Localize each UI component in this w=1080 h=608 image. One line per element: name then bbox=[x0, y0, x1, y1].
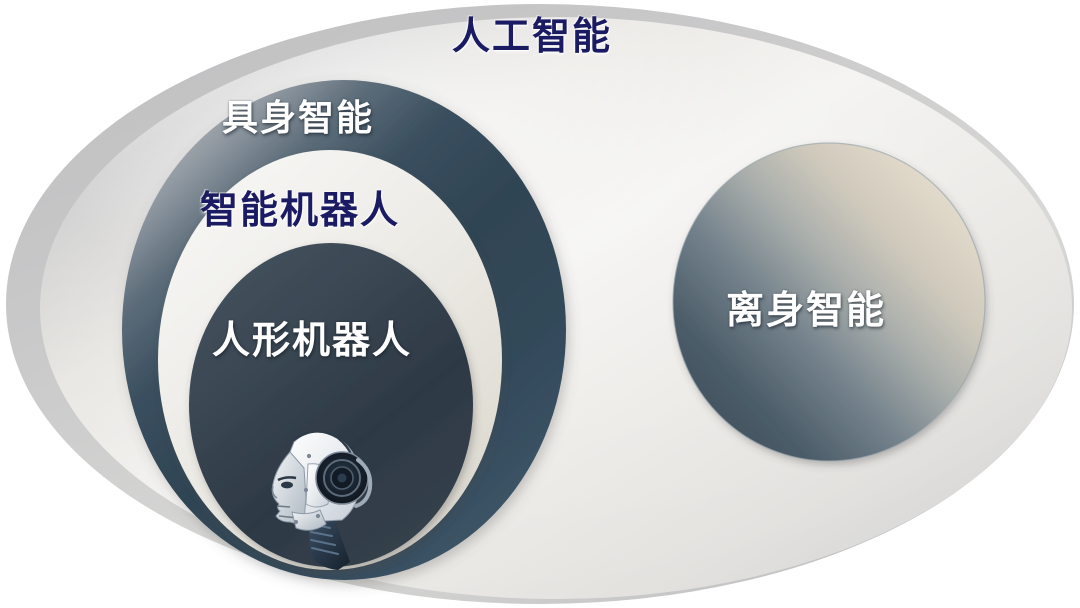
label-humanoid-robot: 人形机器人 bbox=[212, 322, 412, 360]
label-artificial-intelligence: 人工智能 bbox=[452, 18, 612, 56]
diagram-canvas: 人工智能 具身智能 智能机器人 人形机器人 离身智能 bbox=[0, 0, 1080, 608]
region-humanoid-robot[interactable] bbox=[189, 243, 473, 567]
label-embodied-intelligence: 具身智能 bbox=[222, 100, 374, 136]
label-disembodied-intelligence: 离身智能 bbox=[726, 292, 886, 330]
venn-diagram-graphic bbox=[0, 0, 1080, 608]
humanoid-robot-ellipse bbox=[189, 243, 473, 567]
label-intelligent-robot: 智能机器人 bbox=[200, 192, 400, 230]
